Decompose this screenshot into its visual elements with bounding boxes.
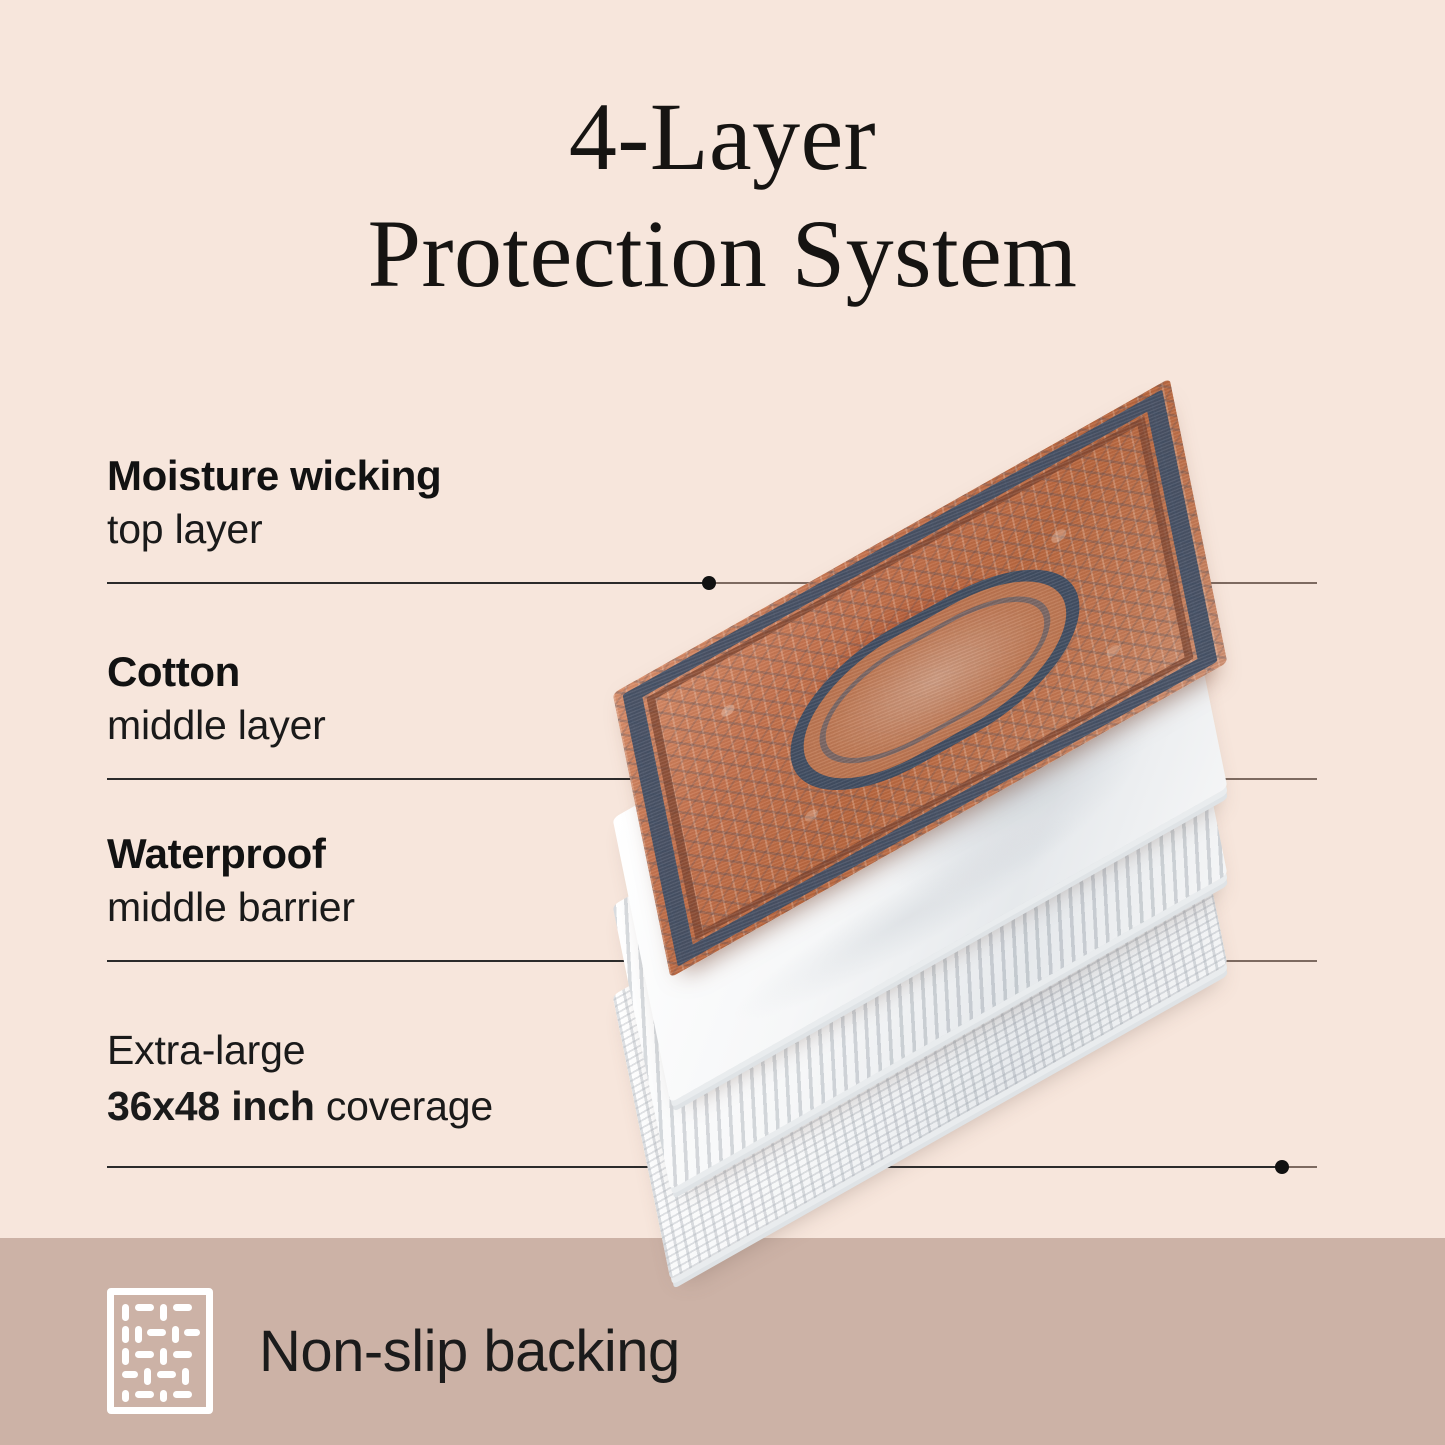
infographic-canvas: 4-Layer Protection System Moisture wicki… (0, 0, 1445, 1445)
title-line-1: 4-Layer (569, 83, 876, 190)
non-slip-weave-icon (107, 1288, 213, 1414)
connector-line-1 (107, 582, 710, 584)
footer-bar: Non-slip backing (0, 1238, 1445, 1445)
page-title: 4-Layer Protection System (0, 78, 1445, 312)
size-measurement: 36x48 inch (107, 1083, 315, 1129)
connector-dot-4 (1275, 1160, 1289, 1174)
footer-label: Non-slip backing (259, 1318, 680, 1385)
footer-content: Non-slip backing (107, 1288, 680, 1414)
title-line-2: Protection System (0, 195, 1445, 312)
connector-dot-1 (702, 576, 716, 590)
size-suffix: coverage (315, 1083, 493, 1129)
